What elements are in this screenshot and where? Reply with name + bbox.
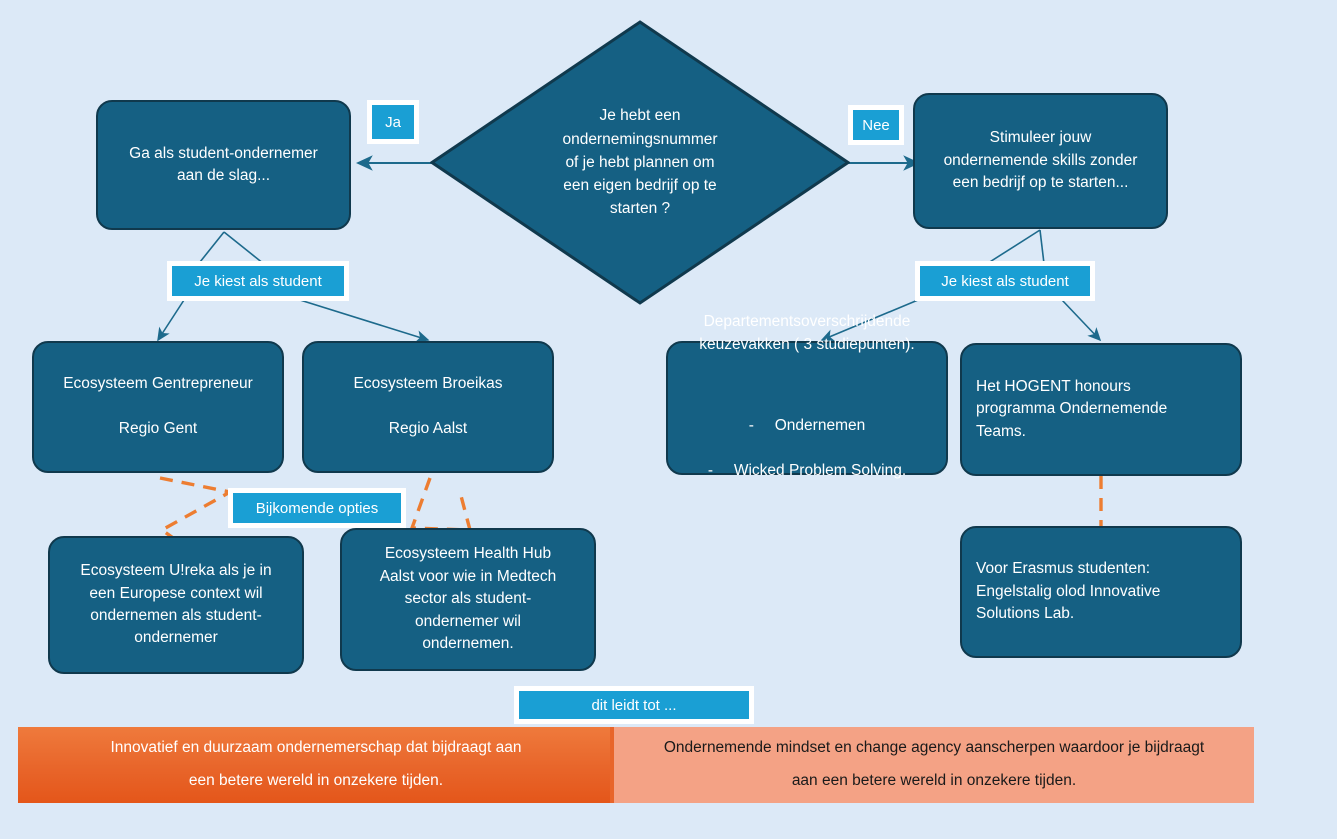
edge-extra-right — [412, 478, 470, 530]
list-item: -Wicked Problem Solving. — [699, 460, 914, 482]
erasmus-text: Voor Erasmus studenten: Engelstalig olod… — [976, 558, 1226, 625]
node-left-main: Ga als student-ondernemer aan de slag... — [96, 100, 351, 230]
tag-leads-to: dit leidt tot ... — [514, 686, 754, 724]
node-right-main: Stimuleer jouw ondernemende skills zonde… — [913, 93, 1168, 229]
keuzevakken-heading: Departementsoverschrijdende keuzevakken … — [699, 311, 914, 356]
banner-left-outcome: Innovatief en duurzaam ondernemerschap d… — [18, 727, 614, 803]
node-keuzevakken: Departementsoverschrijdende keuzevakken … — [666, 341, 948, 475]
banner-right-outcome: Ondernemende mindset en change agency aa… — [610, 727, 1254, 803]
tag-no: Nee — [848, 105, 904, 145]
tag-yes: Ja — [367, 100, 419, 144]
node-ecosystem-ureka: Ecosysteem U!reka als je in een Europese… — [48, 536, 304, 674]
keuzevakken-list: -Ondernemen -Wicked Problem Solving. — [699, 393, 914, 505]
list-item: -Ondernemen — [699, 415, 914, 437]
tag-choose-left: Je kiest als student — [167, 261, 349, 301]
flowchart-canvas: Je hebt een ondernemingsnummer of je heb… — [0, 0, 1337, 839]
node-honours-programma: Het HOGENT honours programma Ondernemend… — [960, 343, 1242, 476]
honours-text: Het HOGENT honours programma Ondernemend… — [976, 376, 1226, 443]
tag-choose-right: Je kiest als student — [915, 261, 1095, 301]
decision-text: Je hebt een ondernemingsnummer of je heb… — [430, 20, 850, 305]
node-ecosystem-broeikas: Ecosysteem Broeikas Regio Aalst — [302, 341, 554, 473]
edge-extra-left — [160, 478, 230, 540]
node-ecosystem-healthhub: Ecosysteem Health Hub Aalst voor wie in … — [340, 528, 596, 671]
node-ecosystem-gentrepreneur: Ecosysteem Gentrepreneur Regio Gent — [32, 341, 284, 473]
tag-extra-options: Bijkomende opties — [228, 488, 406, 528]
node-erasmus: Voor Erasmus studenten: Engelstalig olod… — [960, 526, 1242, 658]
decision-diamond: Je hebt een ondernemingsnummer of je heb… — [430, 20, 850, 305]
